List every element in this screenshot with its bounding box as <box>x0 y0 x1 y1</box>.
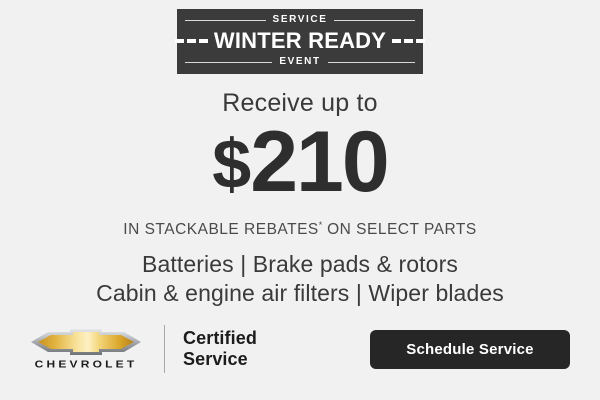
product-list: Batteries | Brake pads & rotors Cabin & … <box>0 250 600 308</box>
banner-kicker-bottom: EVENT <box>279 56 320 68</box>
ad-footer: CHEVROLET Certified Service Schedule Ser… <box>30 318 570 380</box>
brand-divider <box>164 325 165 373</box>
rebate-text-before: IN STACKABLE REBATES <box>123 221 318 238</box>
banner-title-row: WINTER READY <box>185 26 415 56</box>
banner-bottom-row: EVENT <box>185 56 415 68</box>
certified-line-2: Service <box>183 349 257 370</box>
event-banner-container: SERVICE WINTER READY EVENT <box>0 9 600 74</box>
product-line-1: Batteries | Brake pads & rotors <box>0 250 600 279</box>
banner-rule-right <box>334 20 415 21</box>
product-line-2: Cabin & engine air filters | Wiper blade… <box>0 279 600 308</box>
chevrolet-logo: CHEVROLET <box>30 328 142 371</box>
banner-top-row: SERVICE <box>185 14 415 26</box>
banner-rule-right-bottom <box>328 62 415 63</box>
brand-lockup: CHEVROLET Certified Service <box>30 325 257 373</box>
banner-rule-left <box>185 20 266 21</box>
offer-amount: $210 <box>0 116 600 210</box>
chevrolet-bowtie-icon <box>31 328 141 356</box>
schedule-service-button[interactable]: Schedule Service <box>370 330 570 369</box>
certified-service-label: Certified Service <box>183 328 257 370</box>
amount-value: 210 <box>250 114 388 210</box>
dashes-right-icon <box>392 39 425 43</box>
winter-ready-service-ad: SERVICE WINTER READY EVENT Receive up to <box>0 0 600 400</box>
offer-block: Receive up to $210 IN STACKABLE REBATES*… <box>0 88 600 240</box>
banner-rule-left-bottom <box>185 62 272 63</box>
banner-kicker-top: SERVICE <box>273 14 328 26</box>
event-banner: SERVICE WINTER READY EVENT <box>177 9 423 74</box>
dashes-left-icon <box>175 39 208 43</box>
banner-title: WINTER READY <box>214 29 386 53</box>
chevrolet-wordmark: CHEVROLET <box>35 358 138 369</box>
rebate-text-after: ON SELECT PARTS <box>322 221 476 238</box>
certified-line-1: Certified <box>183 328 257 349</box>
rebate-description: IN STACKABLE REBATES* ON SELECT PARTS <box>0 215 600 240</box>
currency-symbol: $ <box>212 125 250 203</box>
